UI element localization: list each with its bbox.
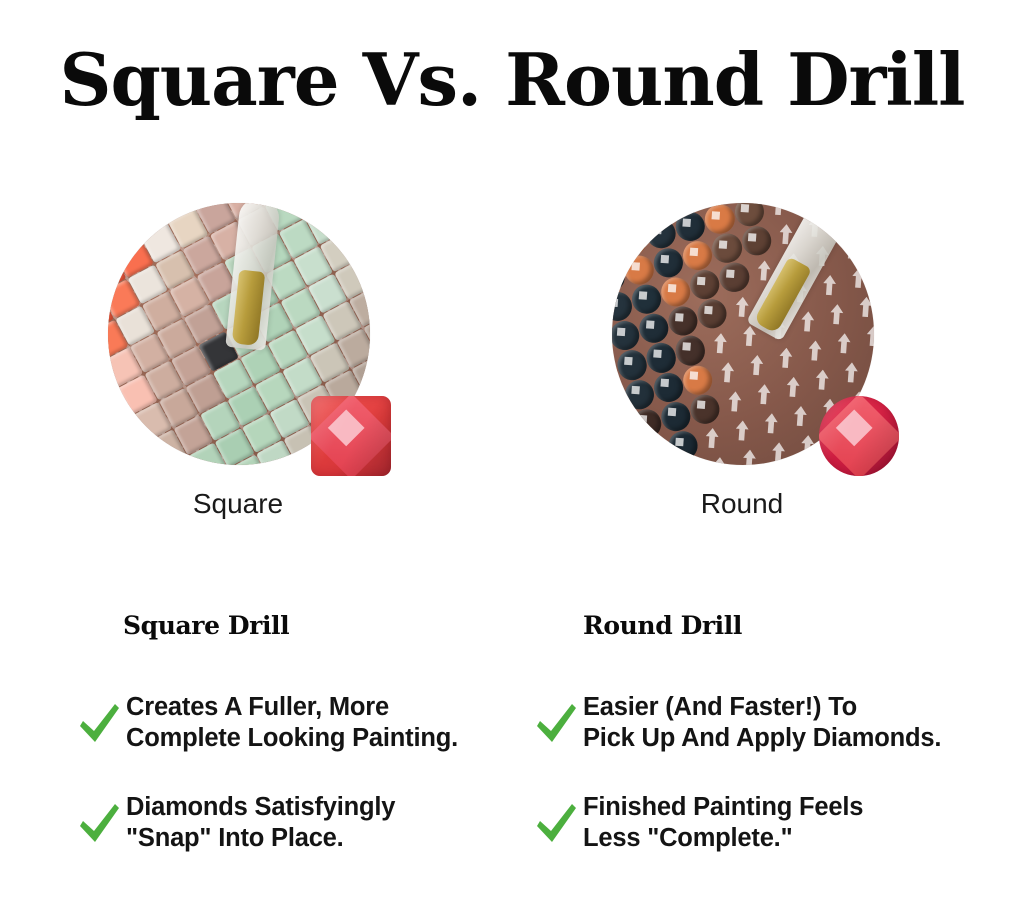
check-icon xyxy=(535,800,577,846)
square-drill-heading: Square Drill xyxy=(123,610,289,642)
list-item: Easier (And Faster!) To Pick Up And Appl… xyxy=(535,692,985,754)
square-gem-icon xyxy=(311,396,391,476)
round-photo-caption: Round xyxy=(577,487,907,521)
gem-facet-edge xyxy=(819,396,899,476)
list-item-label: Diamonds Satisfyingly "Snap" Into Place. xyxy=(126,792,395,854)
list-item-label: Easier (And Faster!) To Pick Up And Appl… xyxy=(583,692,941,754)
check-icon xyxy=(535,700,577,746)
list-item-label: Creates A Fuller, More Complete Looking … xyxy=(126,692,458,754)
square-drill-bullet-list: Creates A Fuller, More Complete Looking … xyxy=(78,692,498,892)
gem-facet-edge xyxy=(311,396,391,476)
pen-wax xyxy=(232,270,266,346)
list-item-label: Finished Painting Feels Less "Complete." xyxy=(583,792,863,854)
square-photo-block xyxy=(93,200,423,490)
list-item: Finished Painting Feels Less "Complete." xyxy=(535,792,985,854)
square-photo-caption: Square xyxy=(73,487,403,521)
check-icon xyxy=(78,700,120,746)
round-drill-bullet-list: Easier (And Faster!) To Pick Up And Appl… xyxy=(535,692,985,892)
round-drill-heading: Round Drill xyxy=(583,610,742,642)
list-item: Creates A Fuller, More Complete Looking … xyxy=(78,692,498,754)
check-icon xyxy=(78,800,120,846)
round-photo-block xyxy=(597,200,927,490)
list-item: Diamonds Satisfyingly "Snap" Into Place. xyxy=(78,792,498,854)
page-title: Square Vs. Round Drill xyxy=(0,40,1024,120)
round-gem-icon xyxy=(819,396,899,476)
